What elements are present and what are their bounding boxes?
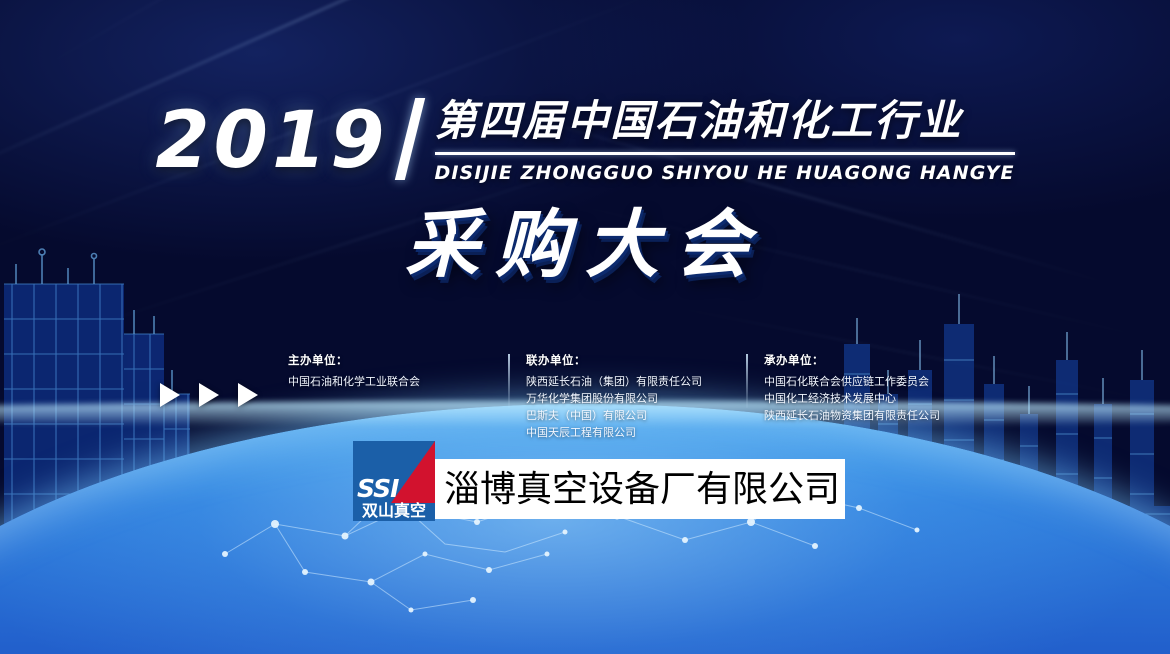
organizer-item: 中国石化联合会供应链工作委员会 — [764, 373, 964, 390]
organizer-heading: 承办单位： — [764, 352, 964, 368]
event-year: 2019 — [155, 96, 388, 180]
organizer-item: 中国石油和化学工业联合会 — [288, 373, 484, 390]
organizer-item: 陕西延长石油物资集团有限责任公司 — [764, 407, 964, 424]
sponsor-bar: SSI 双山真空 淄博真空设备厂有限公司 — [353, 441, 845, 521]
logo-chinese-name: 双山真空 — [353, 502, 435, 520]
organizer-heading: 联办单位： — [526, 352, 722, 368]
logo-initials: SSI — [357, 476, 398, 501]
play-arrow-icon-1 — [160, 383, 180, 407]
organizer-column-cohost: 联办单位： 陕西延长石油（集团）有限责任公司 万华化学集团股份有限公司 巴斯夫（… — [508, 352, 722, 441]
organizer-item: 巴斯夫（中国）有限公司 — [526, 407, 722, 424]
title-block: 2019 第四届中国石油和化工行业 DISIJIE ZHONGGUO SHIYO… — [0, 96, 1170, 184]
organizer-item: 万华化学集团股份有限公司 — [526, 390, 722, 407]
organizer-item: 中国化工经济技术发展中心 — [764, 390, 964, 407]
organizer-columns: 主办单位： 中国石油和化学工业联合会 联办单位： 陕西延长石油（集团）有限责任公… — [288, 352, 964, 441]
arrow-decorations — [160, 383, 258, 407]
play-arrow-icon-3 — [238, 383, 258, 407]
organizer-heading: 主办单位： — [288, 352, 484, 368]
title-separator-bar — [394, 98, 424, 180]
ssi-logo: SSI 双山真空 — [353, 441, 435, 521]
organizer-column-host: 主办单位： 中国石油和化学工业联合会 — [288, 352, 484, 441]
title-text-stack: 第四届中国石油和化工行业 DISIJIE ZHONGGUO SHIYOU HE … — [435, 96, 1015, 184]
event-headline: 采购大会 — [0, 208, 1170, 282]
organizer-column-undertaker: 承办单位： 中国石化联合会供应链工作委员会 中国化工经济技术发展中心 陕西延长石… — [746, 352, 964, 441]
event-title-chinese: 第四届中国石油和化工行业 — [435, 98, 1015, 143]
title-underline-rule — [435, 152, 1015, 155]
event-title-pinyin: DISIJIE ZHONGGUO SHIYOU HE HUAGONG HANGY… — [435, 162, 1015, 184]
play-arrow-icon-2 — [199, 383, 219, 407]
sponsor-company-name: 淄博真空设备厂有限公司 — [435, 459, 845, 519]
organizer-item: 中国天辰工程有限公司 — [526, 424, 722, 441]
poster-canvas: 2019 第四届中国石油和化工行业 DISIJIE ZHONGGUO SHIYO… — [0, 0, 1170, 654]
organizer-item: 陕西延长石油（集团）有限责任公司 — [526, 373, 722, 390]
